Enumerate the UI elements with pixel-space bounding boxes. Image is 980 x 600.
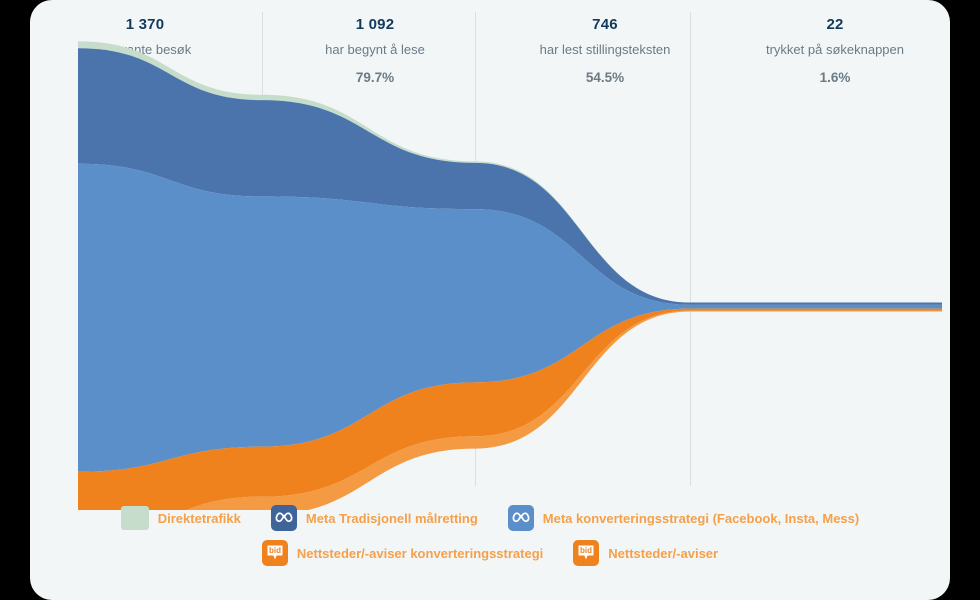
legend-row-2: bid Nettsteder/-aviser konverteringsstra… xyxy=(30,540,950,566)
meta-infinity-icon xyxy=(271,505,297,531)
svg-text:bid: bid xyxy=(269,546,281,555)
legend-label: Meta Tradisjonell målretting xyxy=(306,511,478,526)
svg-text:bid: bid xyxy=(580,546,592,555)
legend-row-1: Direktetrafikk Meta Tradisjonell målrett… xyxy=(30,505,950,531)
funnel-flow-chart xyxy=(30,0,950,510)
color-swatch xyxy=(121,506,149,530)
chart-card: 1 370 relevante besøk 100% 1 092 har beg… xyxy=(30,0,950,600)
legend-label: Nettsteder/-aviser xyxy=(608,546,718,561)
legend-item-nettsteder-konvertering[interactable]: bid Nettsteder/-aviser konverteringsstra… xyxy=(262,540,543,566)
legend-item-direktetrafikk[interactable]: Direktetrafikk xyxy=(121,506,241,530)
bid-icon: bid xyxy=(262,540,288,566)
bid-icon: bid xyxy=(573,540,599,566)
legend-item-meta-konvertering[interactable]: Meta konverteringsstrategi (Facebook, In… xyxy=(508,505,859,531)
chart-legend: Direktetrafikk Meta Tradisjonell målrett… xyxy=(30,505,950,575)
legend-item-meta-tradisjonell[interactable]: Meta Tradisjonell målretting xyxy=(271,505,478,531)
legend-item-nettsteder-aviser[interactable]: bid Nettsteder/-aviser xyxy=(573,540,718,566)
legend-label: Nettsteder/-aviser konverteringsstrategi xyxy=(297,546,543,561)
legend-label: Meta konverteringsstrategi (Facebook, In… xyxy=(543,511,859,526)
meta-infinity-icon xyxy=(508,505,534,531)
legend-label: Direktetrafikk xyxy=(158,511,241,526)
